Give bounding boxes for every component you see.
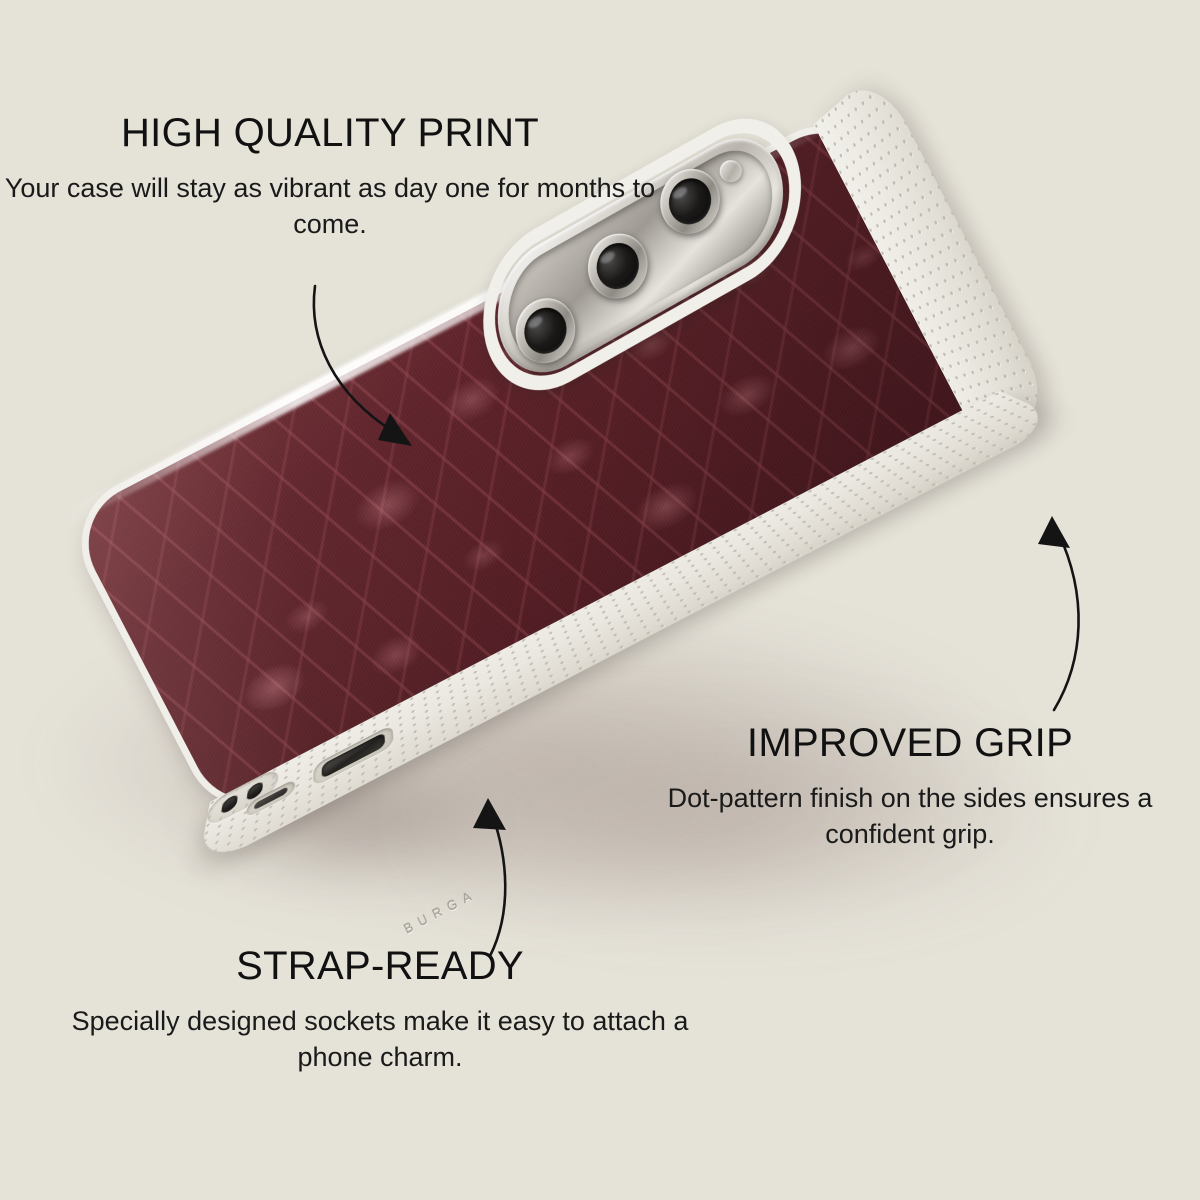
brand-wordmark: BURGA (378, 869, 503, 952)
product-feature-graphic: BURGA HIGH QUALITY PRINT Your case wi (0, 0, 1200, 1200)
callout-body: Specially designed sockets make it easy … (60, 1003, 700, 1076)
callout-body: Your case will stay as vibrant as day on… (0, 170, 660, 243)
callout-body: Dot-pattern finish on the sides ensures … (660, 780, 1160, 853)
callout-strap-ready: STRAP-READY Specially designed sockets m… (60, 945, 700, 1076)
callout-heading: STRAP-READY (60, 945, 700, 987)
callout-heading: IMPROVED GRIP (660, 722, 1160, 764)
callout-improved-grip: IMPROVED GRIP Dot-pattern finish on the … (660, 722, 1160, 853)
callout-high-quality-print: HIGH QUALITY PRINT Your case will stay a… (0, 112, 660, 243)
callout-heading: HIGH QUALITY PRINT (0, 112, 660, 154)
